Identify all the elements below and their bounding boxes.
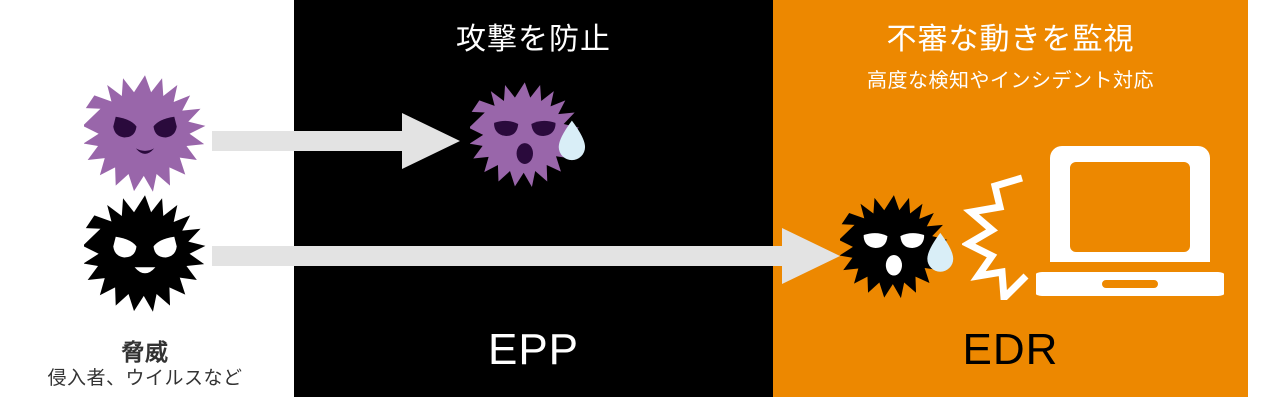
edr-panel-subtitle: 高度な検知やインシデント対応 [773, 64, 1248, 93]
threat-caption: 脅威 侵入者、ウイルスなど [0, 338, 290, 391]
laptop-endpoint-icon [1036, 140, 1224, 308]
threat-sublabel: 侵入者、ウイルスなど [0, 367, 290, 392]
virus-blocked-purple-icon [470, 78, 596, 194]
edr-acronym-label: EDR [773, 325, 1248, 375]
virus-angry-black-icon [84, 194, 206, 316]
epp-panel: 攻撃を防止 EPP [294, 0, 773, 397]
detection-burst-icon [962, 172, 1034, 300]
virus-detected-black-icon [840, 186, 964, 310]
epp-acronym-label: EPP [294, 325, 773, 375]
threat-label: 脅威 [0, 338, 290, 367]
threat-to-epp-arrow [212, 113, 460, 169]
edr-panel-title: 不審な動きを監視 [773, 22, 1248, 58]
threat-through-epp-to-edr-arrow [212, 228, 840, 284]
virus-angry-purple-icon [84, 74, 206, 196]
diagram-canvas: 攻撃を防止 EPP 不審な動きを監視 高度な検知やインシデント対応 EDR [0, 0, 1280, 412]
epp-panel-title: 攻撃を防止 [294, 22, 773, 58]
